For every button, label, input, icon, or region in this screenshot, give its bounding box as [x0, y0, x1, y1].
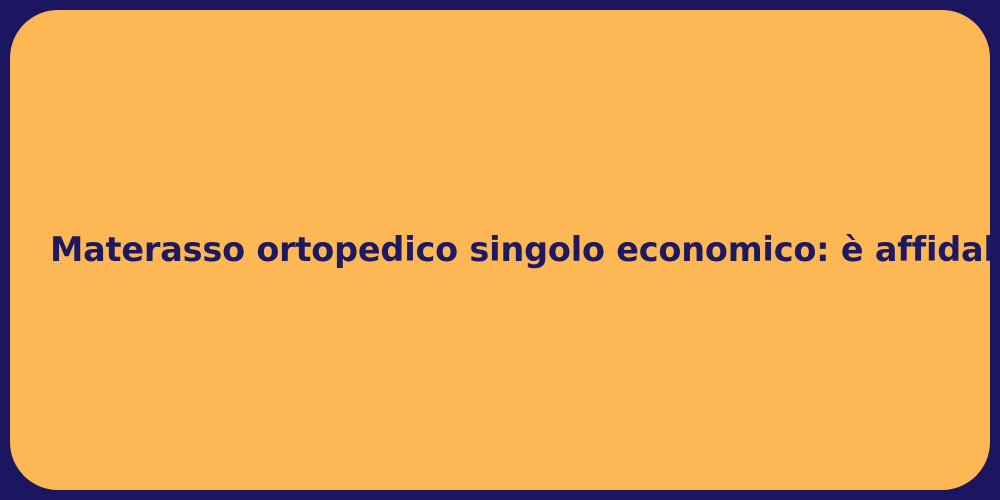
headline-text: Materasso ortopedico singolo economico: …	[10, 229, 990, 271]
page-frame: Materasso ortopedico singolo economico: …	[0, 0, 1000, 500]
headline-card: Materasso ortopedico singolo economico: …	[10, 10, 990, 490]
